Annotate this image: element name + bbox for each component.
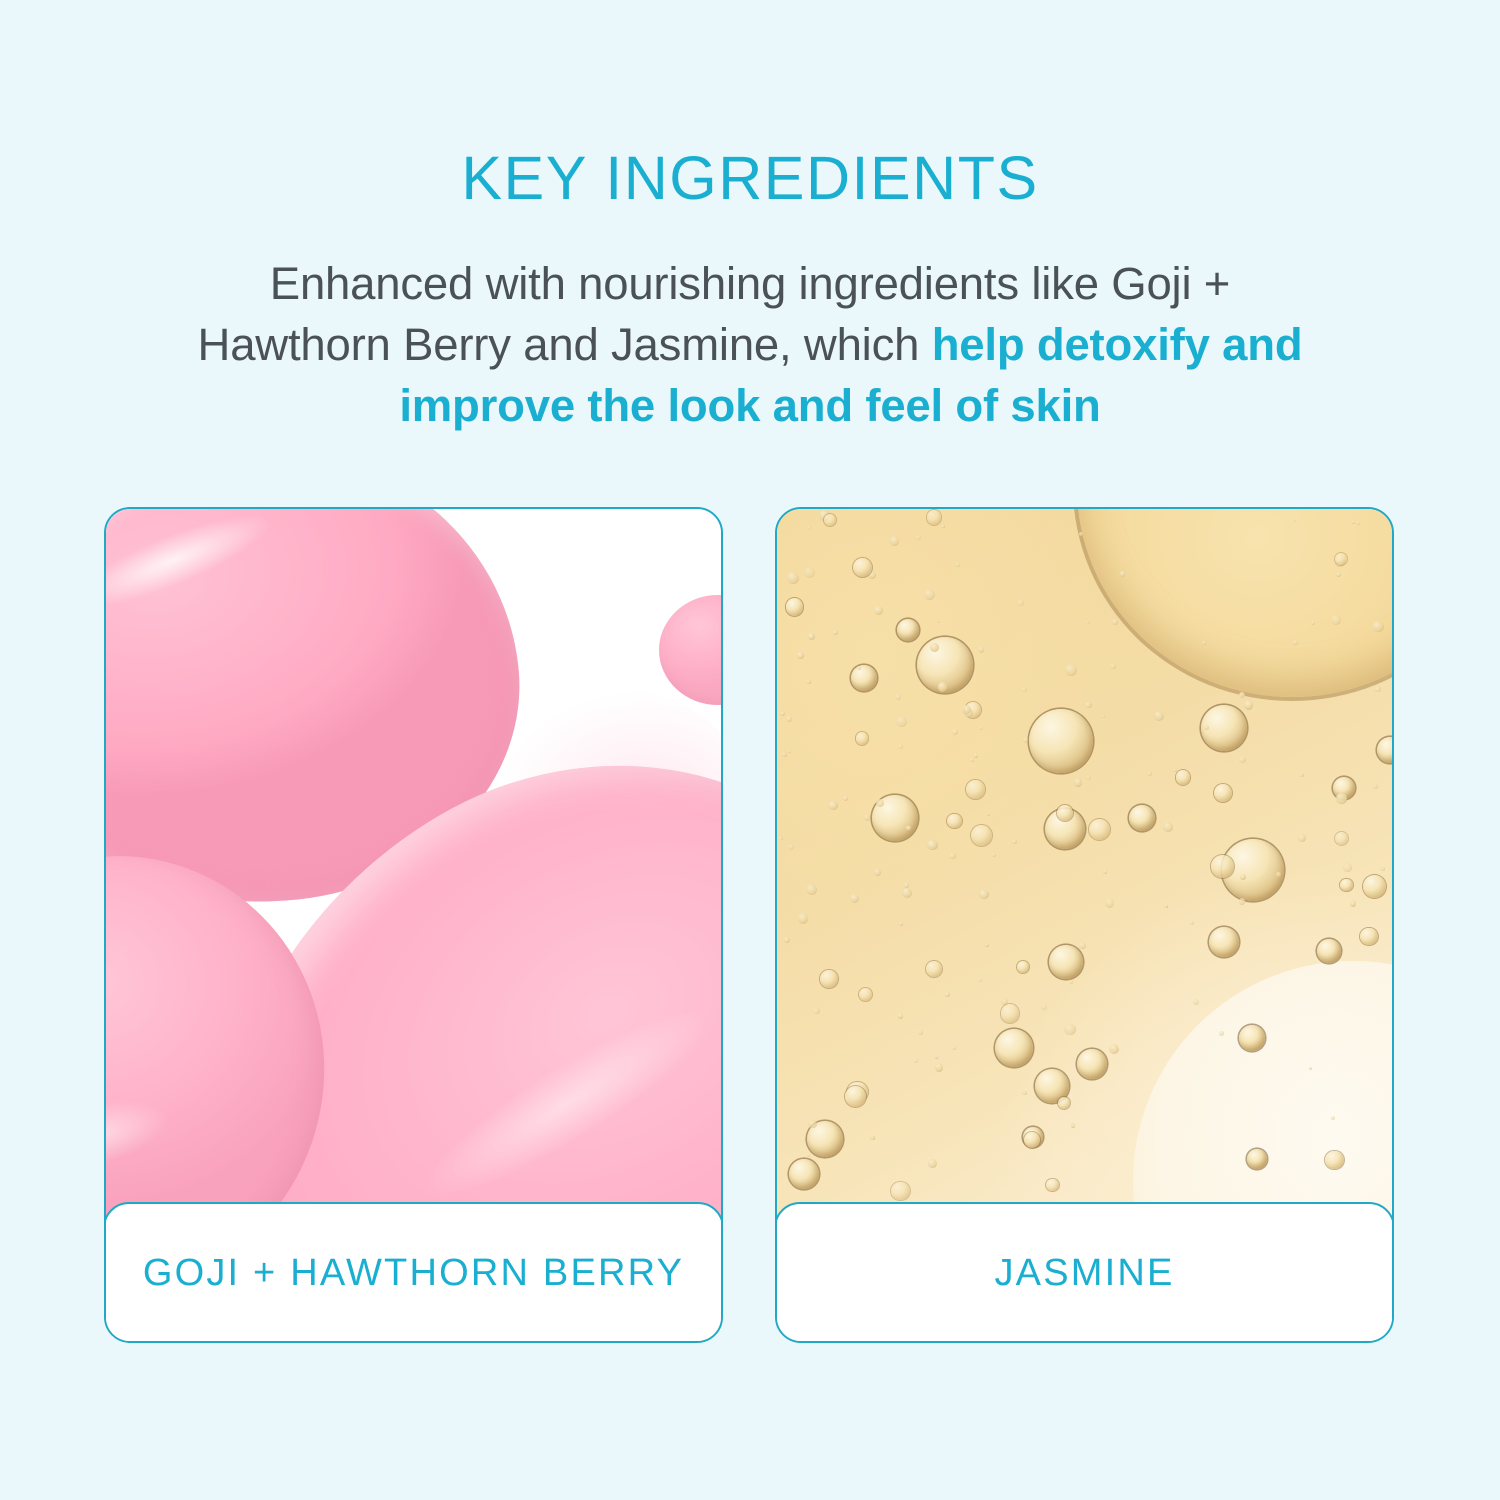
oil-bubble — [1209, 927, 1239, 957]
oil-bubble — [1373, 784, 1378, 789]
oil-bubble — [804, 567, 815, 578]
oil-bubble — [1064, 1024, 1075, 1035]
oil-bubble — [952, 1046, 956, 1050]
oil-bubble — [970, 758, 974, 762]
oil-bubble — [806, 680, 810, 684]
oil-bubble — [1214, 784, 1232, 802]
oil-bubble — [1112, 619, 1118, 625]
oil-bubble — [952, 729, 958, 735]
oil-bubble — [1350, 900, 1357, 907]
oil-bubble — [1211, 855, 1234, 878]
ingredient-card-goji-hawthorn-berry[interactable]: GOJI + HAWTHORN BERRY — [104, 507, 723, 1343]
oil-bubble — [797, 652, 804, 659]
oil-bubble — [927, 510, 941, 524]
oil-bubble — [930, 643, 939, 652]
oil-bubble — [1041, 1004, 1047, 1010]
ingredient-card-jasmine[interactable]: JASMINE — [775, 507, 1394, 1343]
oil-bubble — [962, 705, 971, 714]
oil-bubble — [1299, 773, 1303, 777]
oil-bubble — [859, 988, 872, 1001]
oil-bubble — [870, 1136, 874, 1140]
oil-bubble — [1298, 834, 1306, 842]
oil-bubble — [787, 572, 799, 584]
oil-bubble — [808, 633, 815, 640]
oil-bubble — [1331, 615, 1341, 625]
oil-bubble — [916, 535, 921, 540]
oil-bubble — [1352, 520, 1355, 523]
oil-bubble — [1029, 709, 1093, 773]
oil-bubble — [1239, 692, 1245, 698]
oil-bubble — [856, 732, 869, 745]
oil-bubble — [864, 814, 870, 820]
oil-bubble — [974, 753, 979, 758]
card-label-plate-jasmine: JASMINE — [775, 1202, 1394, 1343]
oil-bubble — [1120, 571, 1126, 577]
oil-bubble — [1372, 621, 1383, 632]
oil-bubble — [1046, 1179, 1059, 1192]
oil-bubble — [874, 869, 881, 876]
oil-bubble — [1336, 793, 1347, 804]
oil-bubble — [1163, 822, 1173, 832]
oil-bubble — [979, 726, 983, 730]
oil-bubble — [1102, 715, 1105, 718]
oil-bubble — [1065, 664, 1076, 675]
oil-bubble — [1129, 805, 1155, 831]
oil-bubble — [1012, 839, 1017, 844]
oil-bubble — [1074, 778, 1083, 787]
oil-bubble — [853, 558, 872, 577]
oil-bubble — [949, 853, 955, 859]
oil-bubble — [956, 562, 961, 567]
oil-bubble — [1317, 939, 1341, 963]
oil-bubble — [1023, 737, 1029, 743]
oil-bubble — [941, 525, 944, 528]
oil-bubble — [1001, 1004, 1019, 1022]
oil-bubble — [995, 1029, 1033, 1067]
oil-bubble — [1240, 874, 1246, 880]
oil-bubble — [1340, 879, 1352, 891]
oil-bubble — [1276, 872, 1281, 877]
card-label-text: JASMINE — [994, 1252, 1174, 1295]
oil-bubble — [1024, 1132, 1040, 1148]
oil-bubble — [1202, 641, 1205, 644]
oil-bubble — [1363, 875, 1386, 898]
oil-bubble — [1374, 686, 1380, 692]
oil-bubble — [845, 1086, 866, 1107]
oil-bubble — [1049, 945, 1083, 979]
header: KEY INGREDIENTS Enhanced with nourishing… — [0, 0, 1500, 436]
oil-bubble — [1244, 700, 1253, 709]
oil-bubble — [808, 1120, 816, 1128]
oil-bubble — [1105, 898, 1114, 907]
oil-bubble — [971, 825, 992, 846]
oil-bubble — [1239, 1025, 1265, 1051]
oil-bubble — [1079, 532, 1083, 536]
oil-bubble — [898, 1013, 904, 1019]
oil-bubble — [987, 812, 990, 815]
oil-bubble — [1077, 1049, 1107, 1079]
oil-bubble — [926, 961, 942, 977]
oil-bubble — [897, 619, 919, 641]
oil-bubble — [1311, 621, 1315, 625]
oil-bubble — [798, 913, 808, 923]
oil-bubble — [927, 840, 938, 851]
oil-bubble — [820, 970, 838, 988]
oil-bubble — [828, 801, 838, 811]
oil-bubble — [786, 598, 803, 615]
oil-bubble — [1239, 898, 1245, 904]
oil-bubble — [1293, 519, 1296, 522]
oil-bubble — [947, 814, 962, 829]
card-label-text: GOJI + HAWTHORN BERRY — [143, 1252, 684, 1295]
oil-bubble — [1247, 1149, 1267, 1169]
oil-bubble — [789, 1159, 819, 1189]
oil-bubble — [1079, 942, 1085, 948]
oil-bubble — [1325, 1151, 1344, 1170]
oil-bubble — [938, 682, 948, 692]
oil-bubble — [1021, 687, 1027, 693]
oil-bubble — [1190, 921, 1194, 925]
oil-bubble — [1086, 775, 1091, 780]
oil-bubble — [1017, 961, 1029, 973]
page-title: KEY INGREDIENTS — [0, 148, 1500, 209]
oil-bubble — [1110, 664, 1115, 669]
subhead-paragraph: Enhanced with nourishing ingredients lik… — [170, 209, 1330, 436]
oil-bubble — [1293, 640, 1298, 645]
oil-bubble — [779, 837, 782, 840]
oil-bubble — [1239, 756, 1246, 763]
oil-bubble — [891, 1182, 909, 1200]
oil-bubble — [906, 826, 910, 830]
oil-bubble — [966, 780, 984, 798]
card-label-plate-goji-hawthorn-berry: GOJI + HAWTHORN BERRY — [104, 1202, 723, 1343]
oil-bubble — [851, 665, 877, 691]
oil-bubble — [1336, 572, 1341, 577]
oil-bubble — [985, 943, 988, 946]
oil-bubble — [1343, 863, 1352, 872]
oil-bubble — [935, 1063, 944, 1072]
